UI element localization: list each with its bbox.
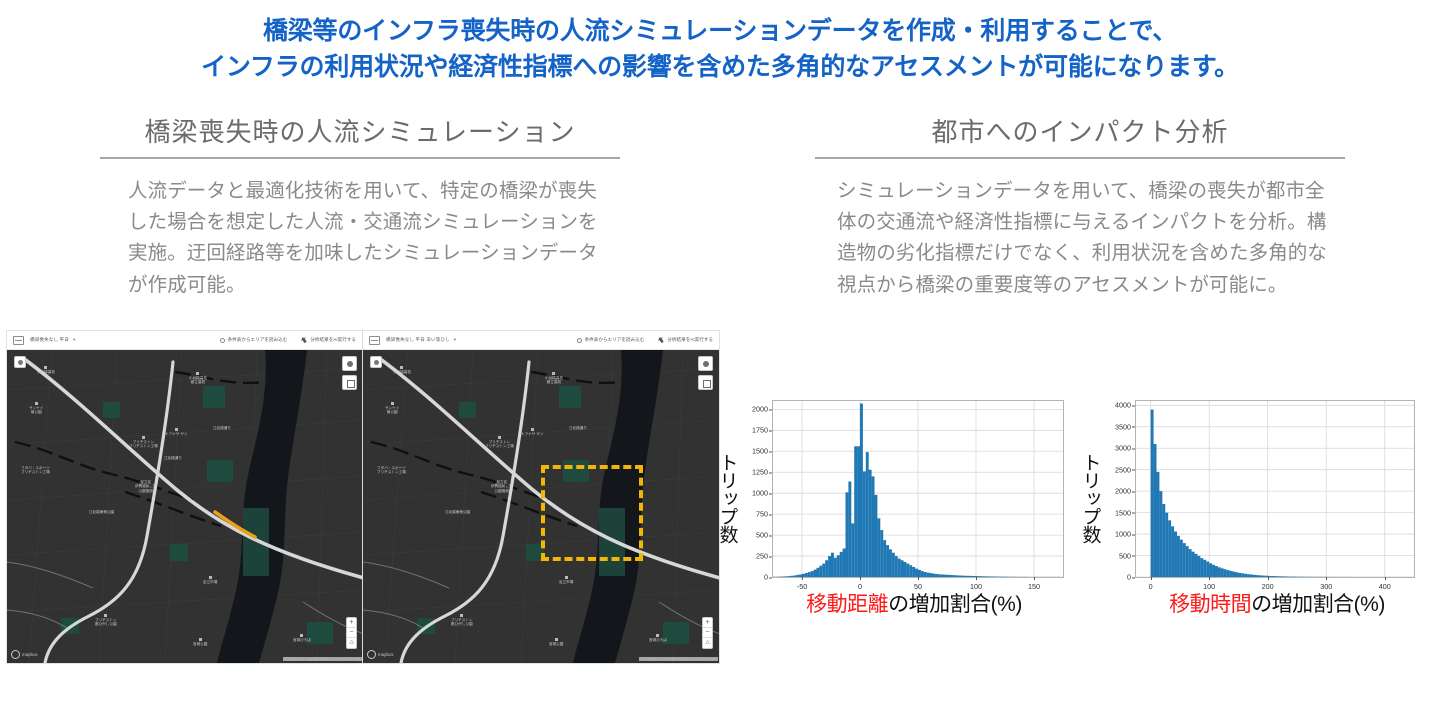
map-style-button[interactable] [342,356,357,371]
map-poi-label: 足立区伊興遺跡公園公園施設 [491,480,513,493]
map-poi-label: ブリヂストンブリヂストン工場 [485,436,514,449]
chart-distance-plot: 025050075010001250150017502000-500501001… [772,400,1064,578]
circle-icon [220,338,225,343]
y-axis-tick-label: 1500 [752,447,768,456]
y-axis-tick-label: 2000 [1115,487,1131,496]
layers-icon[interactable] [369,336,380,345]
map-poi-label: フタバ・スポーツブリヂストン工場 [21,466,50,475]
chevron-down-icon[interactable]: ▾ [454,337,456,343]
map-fullscreen-button[interactable] [698,375,713,390]
map-canvas-before[interactable]: + − ⌂ 小台橋高校 小台橋高校都立高校 サンケイ扇公園 ブリヂストンブリヂス… [7,350,363,663]
map-compass-button[interactable]: ⌂ [347,638,356,648]
section-left-body: 人流データと最適化技術を用いて、特定の橋梁が喪失した場合を想定した人流・交通流シ… [128,176,608,301]
section-right-body-text: シミュレーションデータを用いて、橋梁の喪失が都市全体の交通流や経済性指標に与える… [837,176,1337,301]
map-poi-label: 江北橋通り [213,426,231,430]
map-style-button[interactable] [698,356,713,371]
pin-icon [300,336,308,344]
chart-time-xlabel-red: 移動時間 [1169,593,1251,616]
map-poi-label: 宮城公園 [549,638,563,646]
map-run-analysis-label: 分析結果をAI実行する [310,337,356,343]
map-highlight-box [541,465,643,561]
map-toolbar-before: 橋梁喪失なし 平日 ▾ 条件表からエリアを読み込む 分析結果をAI実行する [7,331,362,350]
section-right-title: 都市へのインパクト分析 [931,112,1228,155]
map-poi-label: サンケイ扇公園 [385,402,399,415]
mapbox-attribution-text: mapbox [378,652,394,657]
map-attribution-right[interactable]: © Mapbox © OpenStreetMap Improve this ma… [283,657,362,661]
map-poi-label: 足立区伊興遺跡公園公園施設 [135,480,157,493]
section-left-divider [100,157,620,159]
circle-icon [577,338,582,343]
map-poi-label: 宮城ひろば [293,634,311,642]
map-canvas-after[interactable]: + − ⌂ 小台橋高校 小台橋高校都立高校 サンケイ扇公園 ブリヂストンブリヂス… [363,350,719,663]
map-poi-label: 足立市場 [203,576,217,584]
map-zoom-controls[interactable]: + − ⌂ [346,617,357,649]
y-axis-tick-label: 4000 [1115,401,1131,410]
map-zoom-controls[interactable]: + − ⌂ [702,617,713,649]
map-poi-label: ブリヂストンブリヂストン工場 [129,436,158,449]
y-axis-tick-label: 250 [756,552,768,561]
map-fullscreen-button[interactable] [342,375,357,390]
mapbox-logo-icon [367,650,376,659]
charts-container: トリップ数 025050075010001250150017502000-500… [714,388,1440,638]
chevron-down-icon[interactable]: ▾ [73,337,75,343]
y-axis-tick-label: 0 [1127,573,1131,582]
map-poi-label: 宮城ひろば [649,634,667,642]
map-zoom-in-button[interactable]: + [703,618,712,628]
chart-time-ylabel: トリップ数 [1079,418,1101,578]
map-poi-label: サンケイ扇公園 [29,402,43,415]
chart-time-xlabel: 移動時間の増加割合(%) [1117,588,1437,618]
map-pane-after[interactable]: 橋梁喪失なし 平日 あい等ひし ▾ 条件表からエリアを読み込む 分析結果をAI実… [363,331,719,663]
chart-time: トリップ数 0500100015002000250030003500400001… [1077,388,1440,638]
y-axis-tick-label: 750 [756,510,768,519]
map-poi-label: 江北橋通り [569,426,587,430]
y-axis-tick-label: 3000 [1115,444,1131,453]
map-attribution-right[interactable]: © Mapbox © OpenStreetMap Improve this ma… [639,657,718,661]
map-compass-button[interactable]: ⌂ [703,638,712,648]
y-axis-tick-label: 1000 [752,489,768,498]
map-preset-label[interactable]: 橋梁喪失なし 平日 [30,337,69,343]
map-toolbar-after: 橋梁喪失なし 平日 あい等ひし ▾ 条件表からエリアを読み込む 分析結果をAI実… [363,331,719,350]
map-poi-label: 江北橋東側公園 [445,510,470,514]
section-left-title: 橋梁喪失時の人流シミュレーション [145,112,576,155]
map-locate-button[interactable] [370,356,382,368]
chart-distance-xlabel: 移動距離の増加割合(%) [754,588,1074,618]
headline-line-1: 橋梁等のインフラ喪失時の人流シミュレーションデータを作成・利用することで、 [0,14,1440,50]
chart-distance: トリップ数 025050075010001250150017502000-500… [714,388,1077,638]
y-axis-tick-label: 1000 [1115,530,1131,539]
chart-time-plot: 0500100015002000250030003500400001002003… [1135,400,1415,578]
map-poi-label: 宮城公園 [193,638,207,646]
mapbox-logo-icon [11,650,20,659]
map-zoom-in-button[interactable]: + [347,618,356,628]
map-poi-label: ブリヂストン都ひがし公園 [451,614,473,627]
histogram-render [773,401,1063,577]
y-axis-tick-label: 0 [764,573,768,582]
map-load-area-label: 条件表からエリアを読み込む [585,337,645,343]
y-axis-tick-label: 1750 [752,426,768,435]
pin-icon [657,336,665,344]
y-axis-tick-label: 500 [1119,551,1131,560]
section-right-body: シミュレーションデータを用いて、橋梁の喪失が都市全体の交通流や経済性指標に与える… [837,176,1337,301]
chart-distance-ylabel: トリップ数 [716,418,738,578]
map-zoom-out-button[interactable]: − [347,628,356,638]
map-locate-button[interactable] [14,356,26,368]
map-poi-label: 小台橋高校都立高校 [545,372,563,385]
y-axis-tick-label: 500 [756,531,768,540]
map-load-area-button[interactable]: 条件表からエリアを読み込む [577,337,645,343]
section-right: 都市へのインパクト分析 シミュレーションデータを用いて、橋梁の喪失が都市全体の交… [720,112,1440,301]
y-axis-tick-label: 3500 [1115,422,1131,431]
map-poi-label: ブリヂストン都ひがし公園 [95,614,117,627]
map-poi-label: 江北橋東側公園 [89,510,114,514]
map-render-before [7,350,363,663]
y-axis-tick-label: 1250 [752,468,768,477]
sections-container: 橋梁喪失時の人流シミュレーション 人流データと最適化技術を用いて、特定の橋梁が喪… [0,112,1440,301]
headline-line-2: インフラの利用状況や経済性指標への影響を含めた多角的なアセスメントが可能になりま… [0,50,1440,86]
map-poi-label: 小台橋高校 [37,366,55,374]
map-poi-label: ナフナサ ゲン [165,428,188,436]
map-preset-label[interactable]: 橋梁喪失なし 平日 あい等ひし [386,337,450,343]
map-pane-before[interactable]: 橋梁喪失なし 平日 ▾ 条件表からエリアを読み込む 分析結果をAI実行する [7,331,363,663]
section-left: 橋梁喪失時の人流シミュレーション 人流データと最適化技術を用いて、特定の橋梁が喪… [0,112,720,301]
chart-distance-xlabel-rest: の増加割合(%) [888,593,1022,616]
page-headline: 橋梁等のインフラ喪失時の人流シミュレーションデータを作成・利用することで、 イン… [0,0,1440,85]
map-poi-label: 小台橋高校 [393,366,411,374]
map-poi-label: フタバ・スポーツブリヂストン工場 [377,466,406,475]
map-poi-label: 小台橋高校都立高校 [189,372,207,385]
map-run-analysis-button[interactable]: 分析結果をAI実行する [658,337,713,343]
map-run-analysis-button[interactable]: 分析結果をAI実行する [301,337,356,343]
mapbox-attribution[interactable]: mapbox [367,650,394,659]
map-load-area-label: 条件表からエリアを読み込む [228,337,288,343]
map-poi-label: 足立市場 [559,576,573,584]
section-left-body-text: 人流データと最適化技術を用いて、特定の橋梁が喪失した場合を想定した人流・交通流シ… [128,176,608,301]
chart-distance-xlabel-red: 移動距離 [806,593,888,616]
mapbox-attribution-text: mapbox [22,652,38,657]
map-screenshot-group: 橋梁喪失なし 平日 ▾ 条件表からエリアを読み込む 分析結果をAI実行する [6,330,720,664]
map-poi-label: ナフナサ ゲン [521,428,544,436]
layers-icon[interactable] [13,336,24,345]
y-axis-tick-label: 2000 [752,405,768,414]
mapbox-attribution[interactable]: mapbox [11,650,38,659]
y-axis-tick-label: 1500 [1115,508,1131,517]
map-zoom-out-button[interactable]: − [703,628,712,638]
histogram-render [1136,401,1414,577]
map-run-analysis-label: 分析結果をAI実行する [667,337,713,343]
map-load-area-button[interactable]: 条件表からエリアを読み込む [220,337,288,343]
y-axis-tick-label: 2500 [1115,465,1131,474]
section-right-divider [815,157,1345,159]
map-poi-label: 江北橋通り [164,456,182,460]
chart-time-xlabel-rest: の増加割合(%) [1251,593,1385,616]
